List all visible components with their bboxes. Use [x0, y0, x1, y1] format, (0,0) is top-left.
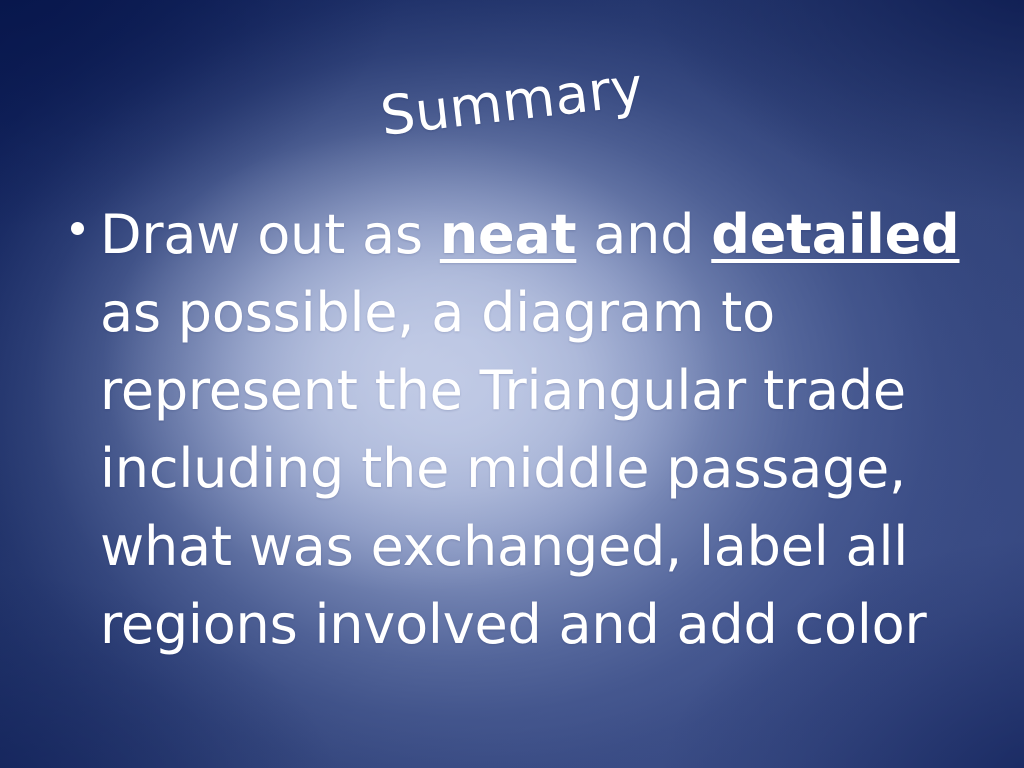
bullet-segment-plain-2: and	[576, 203, 711, 266]
bullet-segment-emphasis-neat: neat	[440, 203, 577, 266]
bullet-segment-plain-1: Draw out as	[100, 203, 440, 266]
bullet-segment-emphasis-detailed: detailed	[711, 203, 959, 266]
bullet-segment-plain-3: as possible, a diagram to represent the …	[100, 281, 926, 656]
slide-body-placeholder: Draw out as neat and detailed as possibl…	[62, 196, 972, 664]
presentation-slide: Summary Draw out as neat and detailed as…	[0, 0, 1024, 768]
bullet-dot-icon	[71, 222, 84, 235]
bullet-marker	[62, 196, 100, 235]
list-item: Draw out as neat and detailed as possibl…	[62, 196, 972, 664]
bullet-text: Draw out as neat and detailed as possibl…	[100, 196, 972, 664]
